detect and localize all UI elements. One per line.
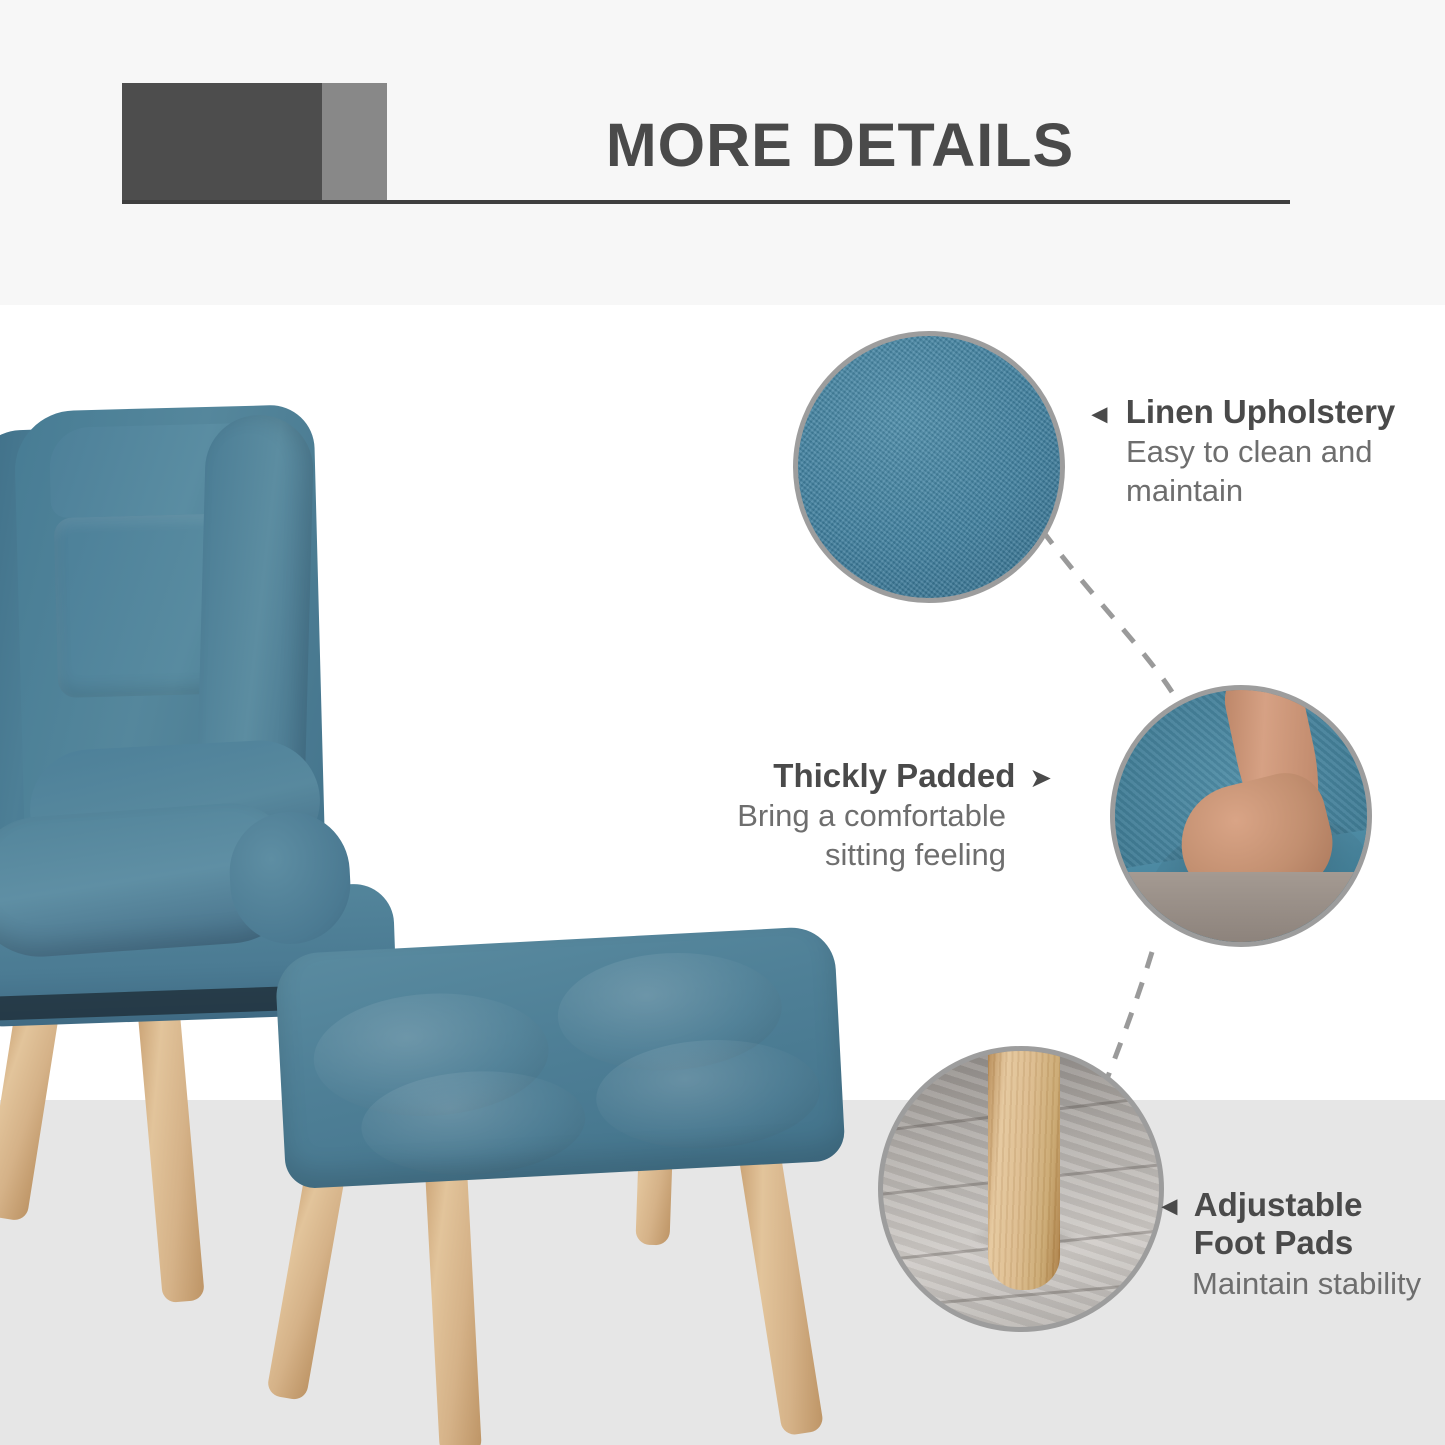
marker-left-triangle-icon: ◄ bbox=[1156, 1193, 1183, 1220]
carpet-under-cushion bbox=[1115, 872, 1367, 942]
callout-subtitle-foot-line-1: Maintain stability bbox=[1192, 1265, 1445, 1303]
header-swatch-dark bbox=[122, 83, 322, 200]
product-detail-page: MORE DETAILS bbox=[0, 0, 1445, 1445]
callout-title-foot-line-1: Adjustable bbox=[1194, 1186, 1363, 1224]
detail-circle-linen-fabric[interactable] bbox=[793, 331, 1065, 603]
wood-grain-texture bbox=[988, 1046, 1060, 1290]
callout-linen-upholstery: ◄ Linen Upholstery Easy to clean and mai… bbox=[1086, 393, 1436, 510]
callout-subtitle-linen-line-1: Easy to clean and bbox=[1126, 433, 1436, 471]
callout-subtitle-linen-line-2: maintain bbox=[1126, 472, 1436, 510]
header-swatch-light bbox=[322, 83, 387, 200]
header-divider-rule bbox=[122, 200, 1290, 204]
callout-subtitle-padded-line-1: Bring a comfortable bbox=[660, 797, 1006, 835]
wooden-leg bbox=[988, 1046, 1060, 1290]
callout-title-linen: Linen Upholstery bbox=[1126, 393, 1396, 431]
ottoman-cushion bbox=[274, 926, 846, 1190]
callout-title-foot-line-2: Foot Pads bbox=[1194, 1224, 1363, 1262]
page-title: MORE DETAILS bbox=[390, 95, 1290, 195]
callout-adjustable-foot-pads: ◄ Adjustable Foot Pads Maintain stabilit… bbox=[1156, 1186, 1445, 1303]
callout-thickly-padded: Thickly Padded ➤ Bring a comfortable sit… bbox=[660, 757, 1052, 874]
chair-leg-front-left bbox=[137, 1001, 205, 1304]
callout-subtitle-padded-line-2: sitting feeling bbox=[660, 836, 1006, 874]
detail-circle-thick-padding[interactable] bbox=[1110, 685, 1372, 947]
marker-left-triangle-icon: ◄ bbox=[1086, 401, 1113, 428]
callout-title-padded: Thickly Padded bbox=[773, 757, 1015, 795]
detail-circle-adjustable-foot-pad[interactable] bbox=[878, 1046, 1164, 1332]
marker-right-arrow-icon: ➤ bbox=[1029, 765, 1052, 792]
